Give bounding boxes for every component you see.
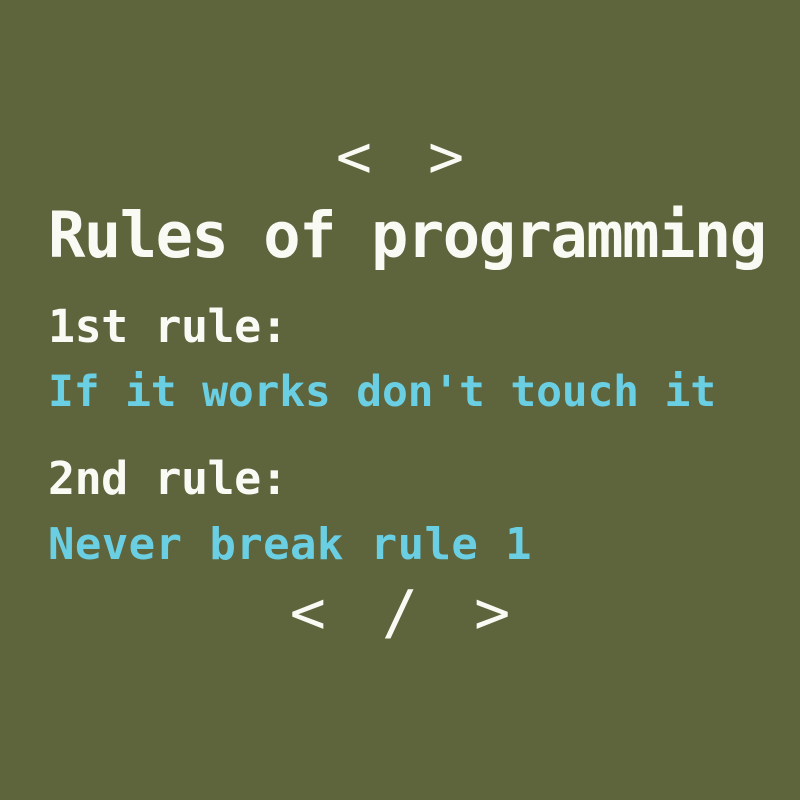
rule-2-text: Never break rule 1 bbox=[48, 519, 788, 571]
code-open-tag-icon: < > bbox=[0, 127, 800, 187]
rule-item-1: 1st rule: If it works don't touch it bbox=[48, 300, 788, 418]
rule-item-2: 2nd rule: Never break rule 1 bbox=[48, 452, 788, 571]
rule-1-label: 1st rule: bbox=[48, 300, 788, 353]
rules-of-programming-poster: < > Rules of programming 1st rule: If it… bbox=[0, 0, 800, 800]
rule-1-text: If it works don't touch it bbox=[48, 367, 788, 418]
code-close-tag-icon: < / > bbox=[0, 583, 800, 643]
rule-2-label: 2nd rule: bbox=[48, 452, 788, 505]
page-title: Rules of programming bbox=[48, 203, 747, 270]
